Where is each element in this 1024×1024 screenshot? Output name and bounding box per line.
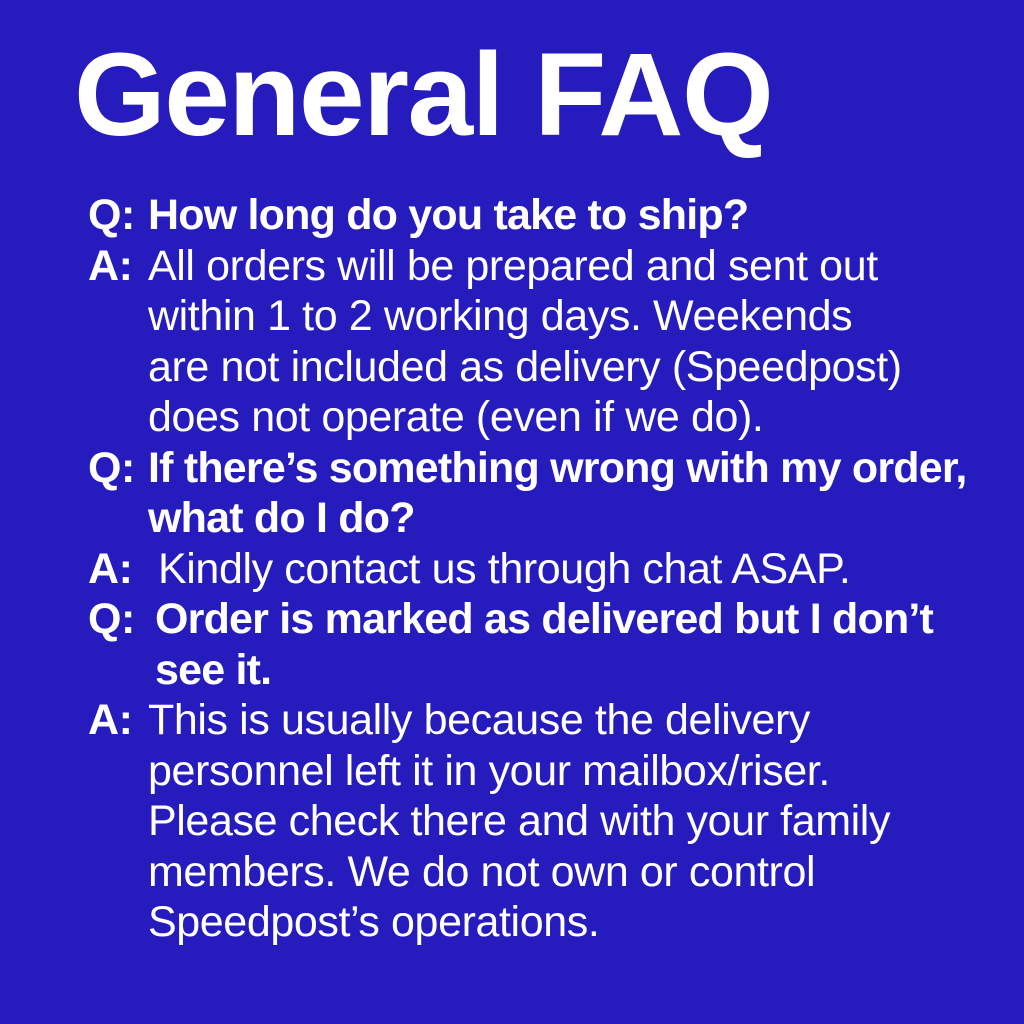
question-text: If there’s something wrong with my order… [148,443,1004,544]
answer-label: A: [88,544,148,595]
question-label: Q: [88,443,148,494]
question-label: Q: [88,190,148,241]
answer-label: A: [88,695,148,746]
answer-text: This is usually because the delivery per… [148,695,1004,948]
answer-text: All orders will be prepared and sent out… [148,241,1004,443]
faq-answer: A:All orders will be prepared and sent o… [88,241,1004,443]
faq-list: Q:How long do you take to ship?A:All ord… [88,190,1004,948]
question-text: Order is marked as delivered but I don’t… [148,594,1004,695]
answer-text: Kindly contact us through chat ASAP. [148,544,1004,595]
faq-question: Q:If there’s something wrong with my ord… [88,443,1004,544]
faq-answer: A:This is usually because the delivery p… [88,695,1004,948]
faq-answer: A:Kindly contact us through chat ASAP. [88,544,1004,595]
question-text: How long do you take to ship? [148,190,1004,241]
answer-label: A: [88,241,148,292]
faq-question: Q:Order is marked as delivered but I don… [88,594,1004,695]
page-title: General FAQ [74,36,954,154]
faq-question: Q:How long do you take to ship? [88,190,1004,241]
faq-card: General FAQ Q:How long do you take to sh… [0,0,1024,1024]
question-label: Q: [88,594,148,645]
